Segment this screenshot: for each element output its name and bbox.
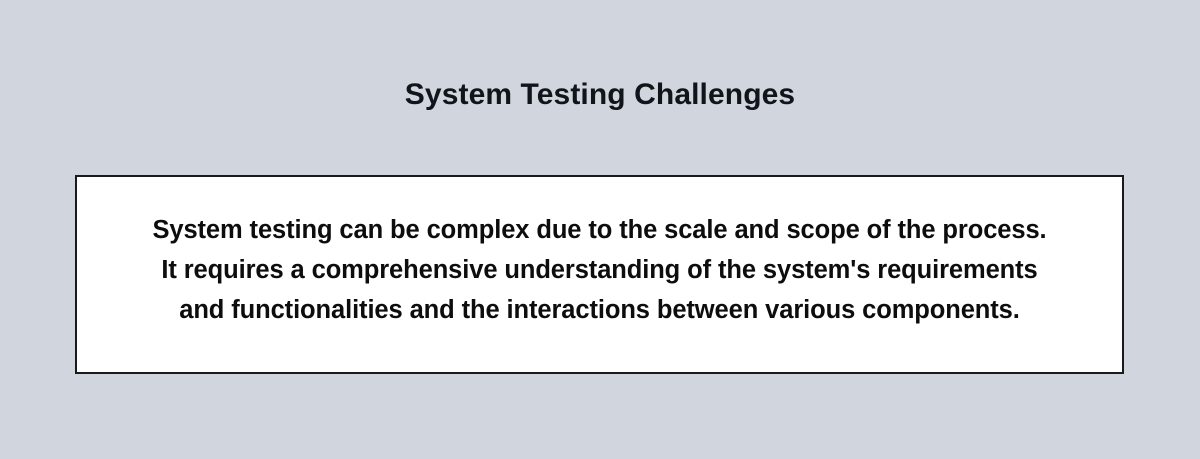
content-box: System testing can be complex due to the…	[75, 175, 1124, 374]
content-paragraph: System testing can be complex due to the…	[77, 210, 1122, 340]
content-line-1: System testing can be complex due to the…	[97, 210, 1102, 250]
page-title: System Testing Challenges	[0, 76, 1200, 114]
slide-canvas: System Testing Challenges System testing…	[0, 0, 1200, 459]
content-line-3: and functionalities and the interactions…	[97, 290, 1102, 330]
content-line-2: It requires a comprehensive understandin…	[97, 250, 1102, 290]
